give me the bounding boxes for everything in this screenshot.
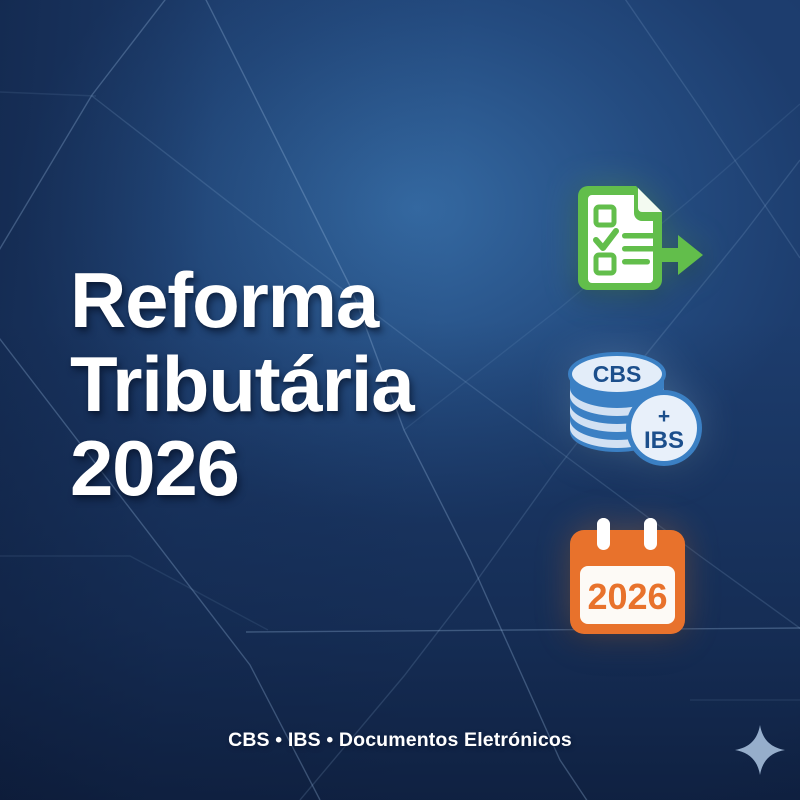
calendar-year-label: 2026 xyxy=(587,576,667,617)
coin-plus-sign: + xyxy=(658,405,670,428)
caption-text: CBS • IBS • Documentos Eletrónicos xyxy=(0,729,800,752)
checklist-document-icon xyxy=(556,176,726,306)
coin-ibs-label: IBS xyxy=(644,427,684,454)
four-point-sparkle-icon xyxy=(732,722,788,778)
icon-column: CBS + IBS 2026 xyxy=(556,176,726,646)
poster-canvas: Reforma Tributária 2026 xyxy=(0,0,800,800)
page-title: Reforma Tributária 2026 xyxy=(70,258,530,510)
calendar-2026-icon: 2026 xyxy=(556,512,726,644)
coins-cbs-ibs-icon: CBS + IBS xyxy=(556,344,726,474)
coin-stack-label: CBS xyxy=(593,361,642,387)
